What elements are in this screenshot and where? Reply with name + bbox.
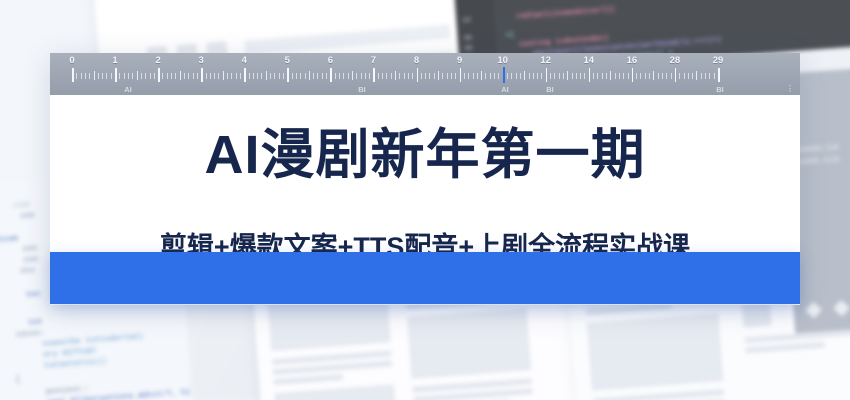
- ruler-tick-minor: [378, 73, 379, 79]
- ruler-tick-mid: [137, 71, 138, 80]
- code-line: nte: [15, 266, 35, 278]
- ruler-tick-minor: [554, 73, 555, 79]
- ruler-tick-minor: [162, 73, 163, 79]
- ruler-tick-minor: [369, 73, 370, 79]
- ruler-tick-minor: [89, 73, 90, 79]
- ruler-tick-minor: [214, 73, 215, 79]
- ruler-tick-minor: [218, 73, 219, 79]
- ruler-number: 16: [627, 55, 638, 66]
- ruler-bar[interactable]: ⋮ 0123456789101214162829AIBIAIBIBI: [50, 53, 800, 95]
- ruler-tick-minor: [714, 73, 715, 79]
- ruler-tick-mid: [94, 71, 95, 80]
- ruler-tick-minor: [171, 73, 172, 79]
- code-line: —coo: [10, 200, 30, 212]
- ruler-playhead-cursor[interactable]: [503, 67, 505, 83]
- ruler-tick-minor: [692, 73, 693, 79]
- ruler-number: 9: [457, 55, 462, 66]
- code-line: #11925.=(i5: [793, 156, 840, 168]
- ruler-tick-minor: [451, 73, 452, 79]
- ruler-tick-minor: [399, 73, 400, 79]
- ruler-tick-minor: [421, 73, 422, 79]
- ruler-tick-minor: [464, 73, 465, 79]
- ruler-tick-mid: [438, 71, 439, 80]
- ruler-number: 7: [371, 55, 376, 66]
- code-line: tec: [21, 290, 41, 302]
- ruler-number: 14: [584, 55, 595, 66]
- ruler-tick-mid: [266, 71, 267, 80]
- ruler-tick-major: [287, 68, 289, 82]
- ruler-tick-minor: [81, 73, 82, 79]
- ruler-tick-minor: [550, 73, 551, 79]
- text-line: [745, 342, 825, 354]
- ruler-tick-minor: [145, 73, 146, 79]
- ruler-tick-minor: [494, 73, 495, 79]
- ruler-tick-major: [330, 68, 332, 82]
- ruler-tick-minor: [348, 73, 349, 79]
- thumbnail-block: [274, 384, 398, 400]
- ruler-tick-minor: [231, 73, 232, 79]
- ruler-tick-minor: [619, 73, 620, 79]
- ruler-number: 12: [540, 55, 551, 66]
- ruler-tick-mid: [524, 71, 525, 80]
- ruler-tick-minor: [193, 73, 194, 79]
- ruler-tick-minor: [356, 73, 357, 79]
- ruler-tick-minor: [386, 73, 387, 79]
- ruler-tick-mid: [223, 71, 224, 80]
- ruler-number: 6: [328, 55, 333, 66]
- code-line: fatcom: [0, 234, 18, 247]
- ruler-tick-major: [244, 68, 246, 82]
- ruler-tick-minor: [76, 73, 77, 79]
- ruler-tick-minor: [188, 73, 189, 79]
- ruler-tick-minor: [640, 73, 641, 79]
- ruler-tick-minor: [175, 73, 176, 79]
- ruler-tick-minor: [313, 73, 314, 79]
- ruler-tick-major: [115, 68, 117, 82]
- ruler-marker-ai[interactable]: AI: [124, 85, 132, 94]
- ruler-tick-major: [718, 68, 720, 82]
- promo-title: AI漫剧新年第一期: [50, 125, 800, 185]
- ruler-tick-mid: [481, 71, 482, 80]
- ruler-tick-minor: [132, 73, 133, 79]
- ruler-tick-minor: [270, 73, 271, 79]
- code-line: {: [15, 375, 21, 386]
- text-line: [273, 374, 343, 385]
- ruler-tick-minor: [197, 73, 198, 79]
- ruler-number: 2: [155, 55, 160, 66]
- ruler-number: 4: [242, 55, 247, 66]
- ruler-tick-minor: [227, 73, 228, 79]
- ruler-tick-minor: [404, 73, 405, 79]
- ruler-overflow-indicator[interactable]: ⋮: [786, 85, 794, 93]
- code-line: tnt: [23, 318, 43, 330]
- ruler-tick-minor: [584, 73, 585, 79]
- ruler-tick-minor: [119, 73, 120, 79]
- ruler-tick-minor: [167, 73, 168, 79]
- ruler-tick-minor: [391, 73, 392, 79]
- screenshot-stage: 13 35 26 77 85 redlael(itemedstcerl)) <(…: [0, 0, 850, 400]
- ruler-number: 8: [414, 55, 419, 66]
- ruler-tick-major: [546, 68, 548, 82]
- ruler-tick-major: [373, 68, 375, 82]
- ruler-tick-minor: [361, 73, 362, 79]
- ruler-marker-ai[interactable]: AI: [501, 85, 509, 94]
- ruler-tick-minor: [210, 73, 211, 79]
- ruler-tick-minor: [98, 73, 99, 79]
- ruler-tick-minor: [597, 73, 598, 79]
- ruler-tick-minor: [206, 73, 207, 79]
- ruler-tick-major: [632, 68, 634, 82]
- ruler-number: 1: [112, 55, 117, 66]
- code-line: cou: [18, 255, 38, 267]
- ruler-tick-mid: [180, 71, 181, 80]
- ruler-tick-minor: [236, 73, 237, 79]
- ruler-tick-minor: [141, 73, 142, 79]
- ruler-tick-major: [417, 68, 419, 82]
- ruler-tick-minor: [111, 73, 112, 79]
- ruler-tick-mid: [395, 71, 396, 80]
- ruler-tick-minor: [563, 73, 564, 79]
- ruler-tick-minor: [593, 73, 594, 79]
- ruler-number: 10: [497, 55, 508, 66]
- ruler-tick-minor: [300, 73, 301, 79]
- ruler-tick-minor: [154, 73, 155, 79]
- ruler-tick-minor: [447, 73, 448, 79]
- ruler-tick-minor: [658, 73, 659, 79]
- ruler-tick-minor: [292, 73, 293, 79]
- ruler-tick-minor: [335, 73, 336, 79]
- ruler-tick-minor: [576, 73, 577, 79]
- thumbnail-block: [742, 302, 772, 328]
- diamond-icon: [805, 302, 822, 319]
- ruler-tick-minor: [671, 73, 672, 79]
- ruler-tick-minor: [434, 73, 435, 79]
- code-line: coo: [18, 244, 38, 256]
- ruler-tick-minor: [408, 73, 409, 79]
- ruler-tick-minor: [261, 73, 262, 79]
- ruler-number: 29: [713, 55, 724, 66]
- ruler-tick-minor: [533, 73, 534, 79]
- ruler-tick-minor: [602, 73, 603, 79]
- ruler-number: 0: [69, 55, 74, 66]
- thumbnail-block: [587, 313, 724, 390]
- ruler-tick-mid: [567, 71, 568, 80]
- ruler-tick-minor: [511, 73, 512, 79]
- ruler-tick-mid: [352, 71, 353, 80]
- ruler-tick-minor: [679, 73, 680, 79]
- code-line: redlael(itemedstcerl)): [516, 6, 615, 22]
- ruler-tick-minor: [615, 73, 616, 79]
- ruler-tick-minor: [701, 73, 702, 79]
- ruler-tick-minor: [473, 73, 474, 79]
- gutter-line-number: 35: [463, 35, 472, 45]
- ruler-tick-minor: [382, 73, 383, 79]
- ruler-tick-minor: [184, 73, 185, 79]
- ruler-tick-minor: [705, 73, 706, 79]
- ruler-tick-major: [201, 68, 203, 82]
- ruler-tick-minor: [257, 73, 258, 79]
- ruler-tick-minor: [442, 73, 443, 79]
- ruler-tick-major: [675, 68, 677, 82]
- ruler-tick-minor: [537, 73, 538, 79]
- ruler-number: 3: [199, 55, 204, 66]
- code-line: <(: [505, 32, 515, 42]
- ruler-tick-minor: [645, 73, 646, 79]
- ruler-tick-minor: [106, 73, 107, 79]
- ruler-tick-minor: [688, 73, 689, 79]
- ruler-tick-minor: [412, 73, 413, 79]
- ruler-tick-minor: [85, 73, 86, 79]
- ruler-marker-bi[interactable]: BI: [546, 85, 554, 94]
- ruler-tick-major: [158, 68, 160, 82]
- ruler-marker-bi[interactable]: BI: [716, 85, 724, 94]
- ruler-tick-minor: [253, 73, 254, 79]
- ruler-tick-minor: [365, 73, 366, 79]
- ruler-marker-bi[interactable]: BI: [358, 85, 366, 94]
- toolbar-address-bar: [244, 24, 450, 54]
- ruler-tick-mid: [610, 71, 611, 80]
- ruler-tick-mid: [309, 71, 310, 80]
- ruler-tick-minor: [606, 73, 607, 79]
- ruler-tick-minor: [541, 73, 542, 79]
- ruler-tick-minor: [305, 73, 306, 79]
- ruler-tick-minor: [520, 73, 521, 79]
- ruler-tick-minor: [636, 73, 637, 79]
- ruler-tick-minor: [559, 73, 560, 79]
- ruler-number: 5: [285, 55, 290, 66]
- ruler-tick-minor: [283, 73, 284, 79]
- ruler-tick-minor: [529, 73, 530, 79]
- thumbnail-block: [407, 308, 531, 379]
- ruler-tick-minor: [468, 73, 469, 79]
- gutter-line-number: 13: [462, 17, 471, 27]
- ruler-tick-minor: [572, 73, 573, 79]
- ruler-number: 28: [670, 55, 681, 66]
- ruler-tick-minor: [339, 73, 340, 79]
- ruler-tick-minor: [516, 73, 517, 79]
- ruler-tick-minor: [623, 73, 624, 79]
- ruler-tick-minor: [649, 73, 650, 79]
- ruler-tick-major: [72, 68, 74, 82]
- ruler-tick-minor: [102, 73, 103, 79]
- ruler-tick-minor: [322, 73, 323, 79]
- ruler-tick-minor: [709, 73, 710, 79]
- code-line: coo: [15, 211, 35, 223]
- ruler-tick-major: [460, 68, 462, 82]
- ruler-tick-major: [589, 68, 591, 82]
- ruler-tick-minor: [240, 73, 241, 79]
- ruler-tick-minor: [317, 73, 318, 79]
- ruler-tick-minor: [628, 73, 629, 79]
- ruler-tick-minor: [150, 73, 151, 79]
- ruler-tick-minor: [128, 73, 129, 79]
- ruler-tick-minor: [498, 73, 499, 79]
- ruler-tick-minor: [580, 73, 581, 79]
- ruler-tick-mid: [653, 71, 654, 80]
- ruler-tick-mid: [696, 71, 697, 80]
- ruler-tick-minor: [490, 73, 491, 79]
- ruler-tick-minor: [477, 73, 478, 79]
- ruler-tick-minor: [666, 73, 667, 79]
- ruler-tick-minor: [684, 73, 685, 79]
- ruler-tick-minor: [455, 73, 456, 79]
- ruler-tick-minor: [429, 73, 430, 79]
- text-line: [592, 389, 724, 400]
- ruler-tick-minor: [485, 73, 486, 79]
- ruler-tick-minor: [249, 73, 250, 79]
- ruler-tick-minor: [124, 73, 125, 79]
- ruler-tick-minor: [296, 73, 297, 79]
- diamond-icon: [833, 300, 850, 317]
- ruler-tick-minor: [343, 73, 344, 79]
- ruler-tick-minor: [326, 73, 327, 79]
- ruler-tick-minor: [274, 73, 275, 79]
- ruler-tick-minor: [425, 73, 426, 79]
- ruler-tick-minor: [507, 73, 508, 79]
- ruler-tick-minor: [279, 73, 280, 79]
- ruler-tick-minor: [662, 73, 663, 79]
- accent-blue-bar: [50, 252, 800, 304]
